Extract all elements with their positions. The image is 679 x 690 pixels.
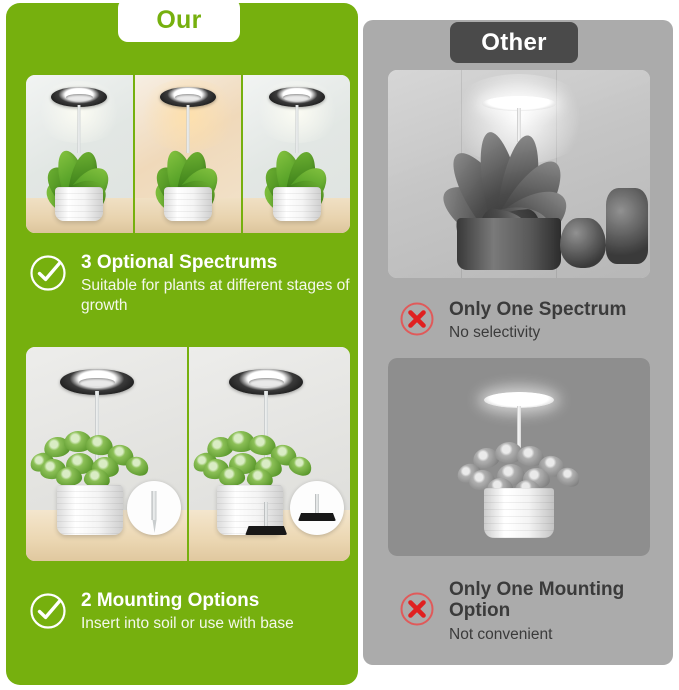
feature-subtitle: Not convenient — [449, 625, 658, 645]
spectrum-panel-warm — [133, 75, 242, 233]
feature-title: 2 Mounting Options — [81, 590, 358, 611]
spectrum-panel-cool-2 — [241, 75, 350, 233]
check-circle-icon — [28, 253, 68, 298]
spectrum-panel-cool-1 — [26, 75, 133, 233]
cross-circle-icon — [398, 590, 436, 633]
feature-two-mounting: 2 Mounting Options Insert into soil or u… — [28, 589, 358, 636]
other-badge: Other — [450, 22, 578, 63]
feature-title: 3 Optional Spectrums — [81, 252, 358, 273]
check-circle-icon — [28, 591, 68, 636]
three-spectrum-photo — [26, 75, 350, 233]
comparison-infographic: 3 Optional Spectrums Suitable for plants… — [0, 0, 679, 690]
mounting-panel-base — [187, 347, 350, 561]
two-mounting-photo — [26, 347, 350, 561]
stake-detail-inset — [127, 481, 181, 535]
feature-title: Only One Spectrum — [449, 299, 670, 320]
feature-subtitle: Insert into soil or use with base — [81, 614, 358, 634]
base-detail-inset — [290, 481, 344, 535]
other-panel: Only One Spectrum No selectivity Only On… — [363, 20, 673, 665]
feature-only-one-mounting: Only One Mounting Option Not convenient — [398, 578, 658, 644]
single-spectrum-photo — [388, 70, 650, 278]
feature-subtitle: Suitable for plants at different stages … — [81, 276, 358, 316]
our-panel: 3 Optional Spectrums Suitable for plants… — [6, 3, 358, 685]
cross-circle-icon — [398, 300, 436, 343]
feature-only-one-spectrum: Only One Spectrum No selectivity — [398, 298, 670, 343]
feature-subtitle: No selectivity — [449, 323, 670, 343]
feature-three-spectrums: 3 Optional Spectrums Suitable for plants… — [28, 251, 358, 316]
our-badge: Our — [118, 0, 240, 42]
feature-title: Only One Mounting Option — [449, 579, 649, 622]
single-mounting-photo — [388, 358, 650, 556]
mounting-panel-stake — [26, 347, 187, 561]
